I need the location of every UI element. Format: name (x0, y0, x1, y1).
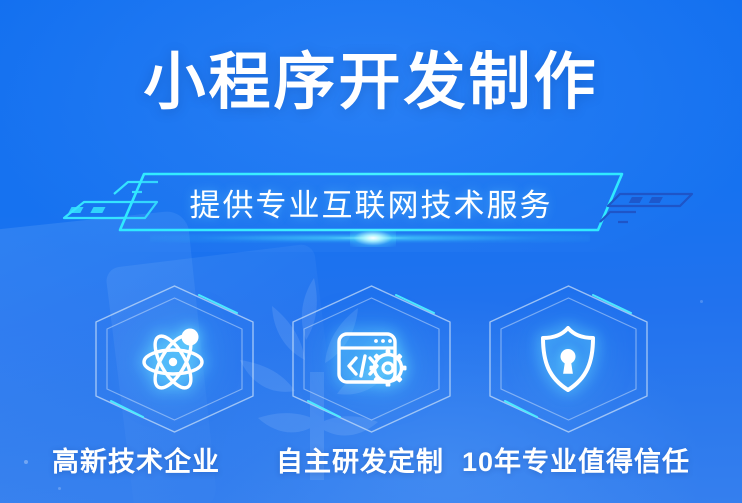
feature-row (0, 283, 742, 435)
promo-banner: 小程序开发制作 (0, 0, 742, 503)
caption-row: 高新技术企业 自主研发定制 10年专业值得信任 (0, 440, 742, 479)
caption-trusted-experience: 10年专业值得信任 (462, 440, 690, 479)
feature-item-tech-enterprise[interactable] (87, 283, 262, 435)
right-ornament-icon (596, 178, 696, 228)
feature-item-custom-development[interactable] (284, 283, 459, 435)
page-title: 小程序开发制作 (0, 52, 742, 114)
feature-item-trusted-experience[interactable] (481, 283, 656, 435)
atom-icon (135, 320, 213, 398)
caption-tech-enterprise: 高新技术企业 (52, 440, 220, 479)
code-window-gear-icon (332, 320, 410, 398)
sparkle-dot (58, 487, 61, 490)
subtitle-text: 提供专业互联网技术服务 (118, 172, 624, 232)
banner-flare-icon (350, 229, 396, 247)
caption-custom-development: 自主研发定制 (276, 440, 444, 479)
subtitle-frame: 提供专业互联网技术服务 (118, 172, 624, 232)
shield-lock-icon (529, 320, 607, 398)
